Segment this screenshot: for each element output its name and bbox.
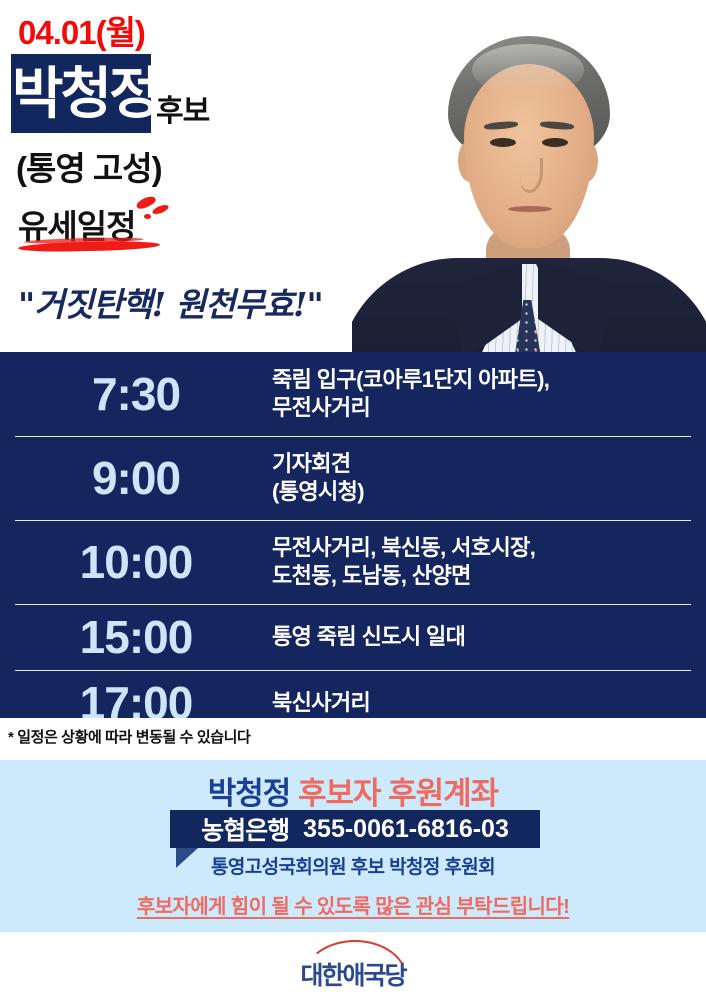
candidate-suffix-label: 후보 [156,86,209,130]
schedule-row: 15:00 통영 죽림 신도시 일대 [0,604,706,670]
district-label: (통영 고성) [16,142,162,190]
candidate-name: 박청정 [12,50,152,137]
party-logo: 대한애국당 [0,932,706,992]
bank-name: 농협은행 [201,811,289,847]
schedule-place: 북신사거리 [272,689,706,717]
portrait-eye-left [490,138,516,147]
bank-account-box[interactable]: 농협은행 355-0061-6816-03 [170,810,540,848]
bank-account-number: 355-0061-6816-03 [303,815,509,844]
schedule-note: * 일정은 상황에 따라 변동될 수 있습니다 [8,726,250,747]
schedule-place: 죽림 입구(코아루1단지 아파트), 무전사거리 [272,366,706,421]
campaign-slogan: "거짓탄핵! 원천무효!" [18,278,323,326]
donation-panel: 박청정 후보자 후원계좌 농협은행 355-0061-6816-03 통영고성국… [0,760,706,932]
schedule-note-bar: * 일정은 상황에 따라 변동될 수 있습니다 [0,718,706,760]
donation-organization: 통영고성국회의원 후보 박청정 후원회 [0,852,706,879]
schedule-row: 10:00 무전사거리, 북신동, 서호시장, 도천동, 도남동, 산양면 [0,520,706,604]
red-brush-underline [18,240,160,252]
schedule-place: 무전사거리, 북신동, 서호시장, 도천동, 도남동, 산양면 [272,534,706,589]
portrait-eye-right [542,138,568,147]
donation-cta-text: 후보자에게 힘이 될 수 있도록 많은 관심 부탁드립니다! [137,896,569,918]
party-name: 대한애국당 [0,956,706,992]
schedule-time: 7:30 [0,371,272,417]
campaign-poster: 04.01(월) 박청정 후보 (통영 고성) 유세일정 "거짓탄핵! 원천무효… [0,0,706,992]
schedule-heading-group: 유세일정 [18,200,198,262]
schedule-time: 9:00 [0,455,272,501]
portrait-hair-highlight [472,44,584,96]
poster-header: 04.01(월) 박청정 후보 (통영 고성) 유세일정 "거짓탄핵! 원천무효… [0,0,706,352]
donation-title-name: 박청정 [208,776,291,811]
schedule-place: 통영 죽림 신도시 일대 [272,623,706,651]
red-splatter-icon [144,214,151,219]
candidate-portrait [352,0,706,352]
donation-title: 박청정 후보자 후원계좌 [0,768,706,813]
red-splatter-icon [151,203,169,216]
donation-cta: 후보자에게 힘이 될 수 있도록 많은 관심 부탁드립니다! [0,890,706,919]
schedule-panel: 7:30 죽림 입구(코아루1단지 아파트), 무전사거리 9:00 기자회견 … [0,352,706,718]
schedule-time: 15:00 [0,614,272,660]
portrait-mouth [508,206,552,212]
schedule-place: 기자회견 (통영시청) [272,450,706,505]
schedule-row: 9:00 기자회견 (통영시청) [0,436,706,520]
schedule-time: 10:00 [0,539,272,585]
campaign-date: 04.01(월) [18,6,145,54]
donation-title-rest: 후보자 후원계좌 [298,776,498,811]
schedule-row: 7:30 죽림 입구(코아루1단지 아파트), 무전사거리 [0,352,706,436]
party-footer: 대한애국당 [0,932,706,992]
